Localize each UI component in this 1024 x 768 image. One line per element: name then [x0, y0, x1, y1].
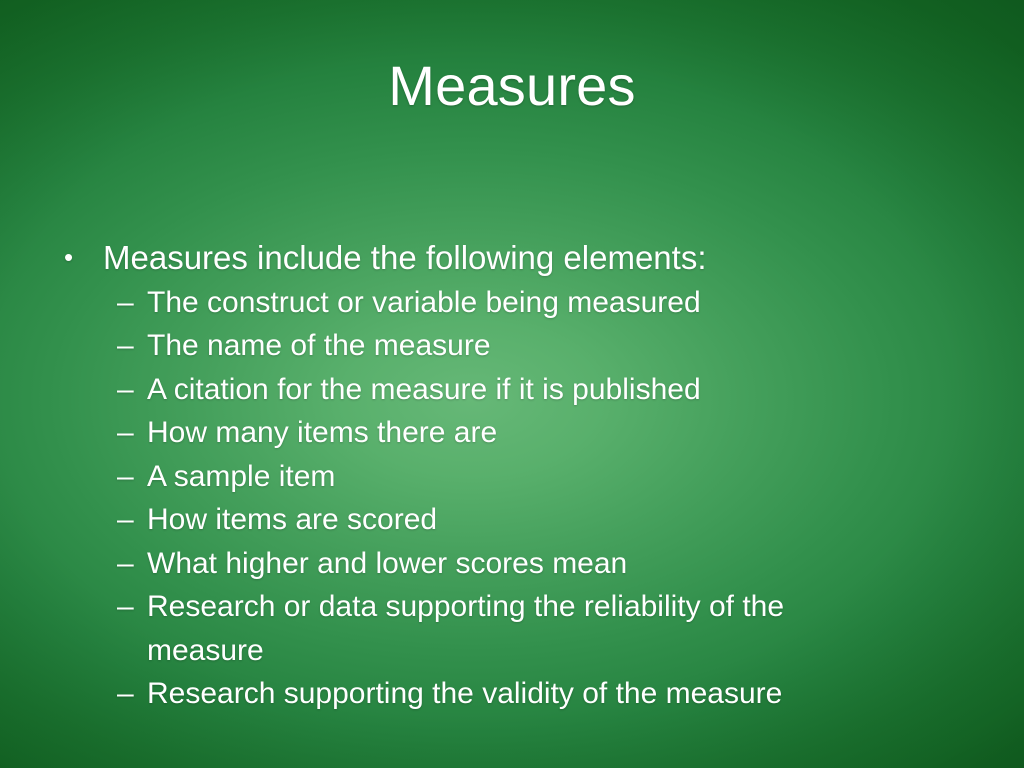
bullet-dot-icon: •	[52, 237, 103, 277]
bullet-text: Measures include the following elements:	[103, 237, 952, 279]
bullet-dash-icon: –	[117, 455, 147, 499]
bullet-text: Research supporting the validity of the …	[147, 672, 877, 716]
bullet-dash-icon: –	[117, 368, 147, 412]
bullet-text: What higher and lower scores mean	[147, 542, 877, 586]
bullet-dash-icon: –	[117, 281, 147, 325]
bullet-dash-icon: –	[117, 498, 147, 542]
bullet-dash-icon: –	[117, 324, 147, 368]
bullet-dash-icon: –	[117, 585, 147, 629]
bullet-text: A citation for the measure if it is publ…	[147, 368, 877, 412]
bullet-item: – Research supporting the validity of th…	[52, 672, 952, 716]
bullet-dash-icon: –	[117, 542, 147, 586]
bullet-text: How many items there are	[147, 411, 877, 455]
bullet-dash-icon: –	[117, 411, 147, 455]
bullet-text: Research or data supporting the reliabil…	[147, 585, 877, 672]
bullet-text: The name of the measure	[147, 324, 877, 368]
bullet-item: – How items are scored	[52, 498, 952, 542]
slide-body-content: • Measures include the following element…	[52, 237, 952, 716]
bullet-item: – Research or data supporting the reliab…	[52, 585, 952, 672]
bullet-dash-icon: –	[117, 672, 147, 716]
bullet-item: • Measures include the following element…	[52, 237, 952, 279]
bullet-item: – How many items there are	[52, 411, 952, 455]
bullet-text: A sample item	[147, 455, 877, 499]
bullet-text: How items are scored	[147, 498, 877, 542]
bullet-item: – A citation for the measure if it is pu…	[52, 368, 952, 412]
bullet-item: – A sample item	[52, 455, 952, 499]
presentation-slide: Measures • Measures include the followin…	[0, 0, 1024, 768]
bullet-item: – What higher and lower scores mean	[52, 542, 952, 586]
bullet-text: The construct or variable being measured	[147, 281, 877, 325]
bullet-item: – The name of the measure	[52, 324, 952, 368]
slide-title: Measures	[0, 55, 1024, 117]
bullet-item: – The construct or variable being measur…	[52, 281, 952, 325]
